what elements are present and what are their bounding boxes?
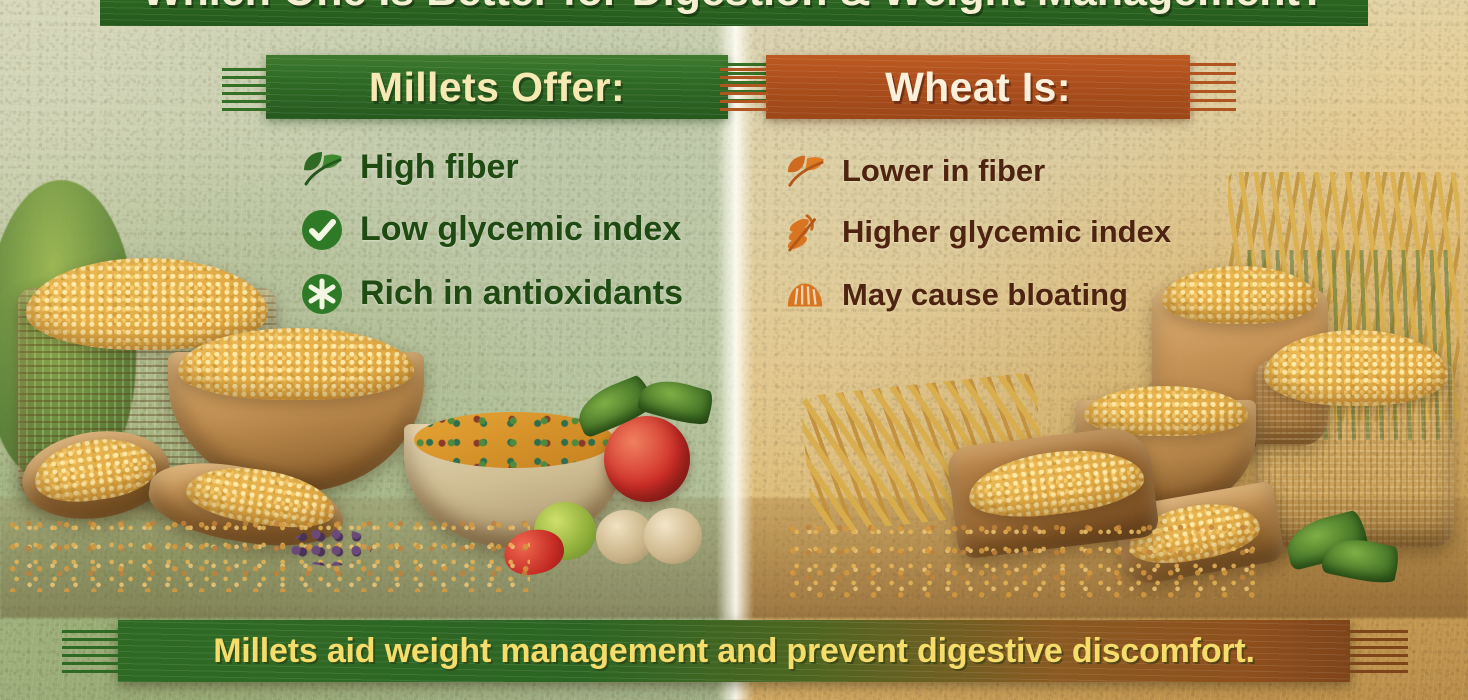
leaf-icon — [784, 152, 826, 190]
wheat-icon — [784, 210, 826, 254]
millets-heading-banner: Millets Offer: — [266, 55, 728, 119]
check-circle-icon — [300, 208, 344, 252]
wheat-heading-banner: Wheat Is: — [766, 55, 1190, 119]
list-item: Higher glycemic index — [784, 210, 1204, 254]
main-title-banner: Which One Is Better for Digestion & Weig… — [100, 0, 1368, 26]
right-table-surface — [736, 498, 1468, 618]
benefit-label: Rich in antioxidants — [360, 276, 683, 312]
title-banner-texture — [100, 0, 1368, 26]
list-item: Rich in antioxidants — [300, 272, 720, 316]
drawback-label: Lower in fiber — [842, 155, 1045, 188]
list-item: Low glycemic index — [300, 208, 720, 252]
benefit-label: Low glycemic index — [360, 212, 681, 248]
infographic-canvas: Which One Is Better for Digestion & Weig… — [0, 0, 1468, 700]
benefit-label: High fiber — [360, 150, 519, 186]
bottom-summary-banner: Millets aid weight management and preven… — [118, 620, 1350, 682]
list-item: Lower in fiber — [784, 152, 1204, 190]
leaf-icon — [300, 148, 344, 188]
wheat-heading: Wheat Is: — [885, 64, 1071, 111]
list-item: May cause bloating — [784, 274, 1204, 316]
left-table-surface — [0, 498, 736, 618]
sparkle-circle-icon — [300, 272, 344, 316]
millets-heading: Millets Offer: — [369, 64, 625, 111]
summary-text: Millets aid weight management and preven… — [213, 632, 1255, 671]
wheat-drawback-list: Lower in fiber Higher glycemic index — [784, 152, 1204, 336]
list-item: High fiber — [300, 148, 720, 188]
bread-icon — [784, 274, 826, 316]
drawback-label: Higher glycemic index — [842, 216, 1171, 249]
drawback-label: May cause bloating — [842, 279, 1128, 312]
millets-benefit-list: High fiber Low glycemic index — [300, 148, 720, 336]
